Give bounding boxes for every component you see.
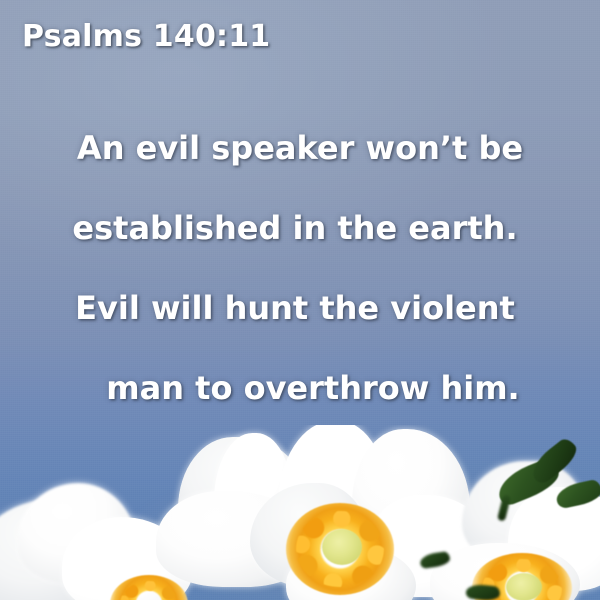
pistil-right — [506, 573, 542, 600]
leaf-bottom-small — [465, 583, 500, 600]
verse-line-3: Evil will hunt the violent — [0, 268, 600, 348]
verse-line-1: An evil speaker won’t be — [0, 108, 600, 188]
verse-text-block: An evil speaker won’t be established in … — [0, 108, 600, 428]
verse-line-4: man to overthrow him. — [0, 348, 600, 428]
verse-reference: Psalms 140:11 — [22, 19, 270, 54]
anemone-flower-photo — [0, 425, 600, 600]
pistil-center — [322, 529, 362, 565]
scripture-verse-card: Psalms 140:11 An evil speaker won’t be e… — [0, 0, 600, 600]
verse-line-2: established in the earth. — [0, 188, 600, 268]
